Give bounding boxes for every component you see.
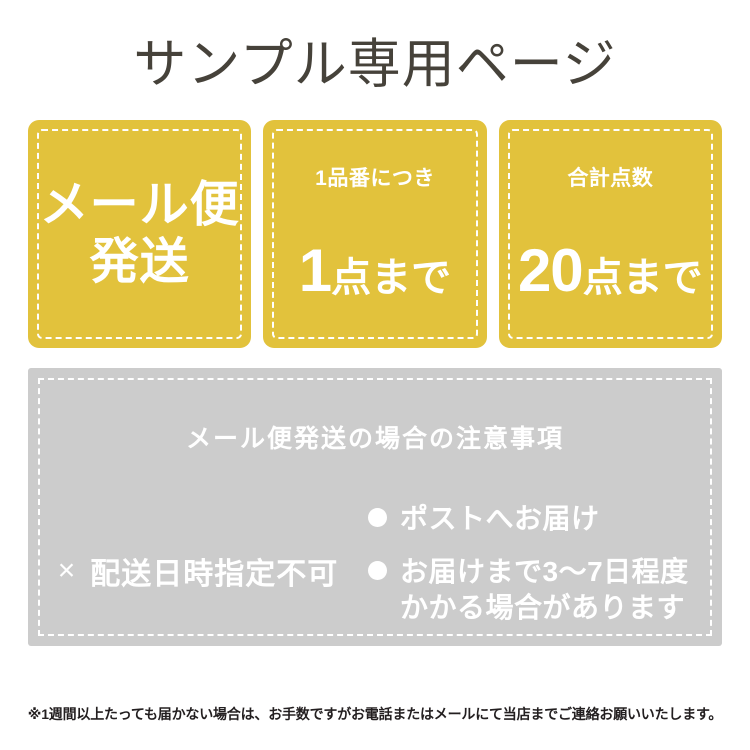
list-item: お届けまで3〜7日程度 かかる場合があります xyxy=(368,554,722,626)
notice-body: × 配送日時指定不可 ポストへお届け お届けまで3〜7日程度 かかる場合がありま… xyxy=(28,455,722,625)
feature-box-row: メール便 発送 1品番につき 1点まで 合計点数 20点まで xyxy=(28,120,722,348)
bullet-line-1: お届けまで3〜7日程度 xyxy=(400,556,689,587)
bullet-line-2: かかる場合があります xyxy=(400,590,689,626)
total-limit-unit: 点まで xyxy=(583,256,703,300)
bullet-text: お届けまで3〜7日程度 かかる場合があります xyxy=(400,554,689,626)
per-item-limit-number: 1 xyxy=(299,237,331,304)
notice-bullet-list: ポストへお届け お届けまで3〜7日程度 かかる場合があります xyxy=(368,501,722,625)
page-title: サンプル専用ページ xyxy=(0,0,750,91)
bullet-text: ポストへお届け xyxy=(400,501,600,537)
total-limit-value: 20点まで xyxy=(499,241,722,301)
total-limit-caption: 合計点数 xyxy=(499,168,722,189)
feature-box-per-item-limit: 1品番につき 1点まで xyxy=(263,120,486,348)
shipping-method-line-2: 発送 xyxy=(28,234,251,291)
feature-box-total-limit: 合計点数 20点まで xyxy=(499,120,722,348)
feature-box-shipping-method: メール便 発送 xyxy=(28,120,251,348)
total-limit-number: 20 xyxy=(518,237,583,304)
per-item-limit-caption: 1品番につき xyxy=(263,168,486,189)
cross-icon: × xyxy=(58,556,77,586)
bullet-line-1: ポストへお届け xyxy=(400,503,600,534)
notice-heading: メール便発送の場合の注意事項 xyxy=(28,368,722,455)
shipping-method-line-1: メール便 xyxy=(28,177,251,234)
bullet-dot-icon xyxy=(368,508,387,527)
bullet-dot-icon xyxy=(368,561,387,580)
feature-box-content: 1品番につき 1点まで xyxy=(263,168,486,301)
feature-box-content: メール便 発送 xyxy=(28,177,251,291)
notice-panel: メール便発送の場合の注意事項 × 配送日時指定不可 ポストへお届け お届けまで3… xyxy=(28,368,722,646)
footer-note: ※1週間以上たっても届かない場合は、お手数ですがお電話またはメールにて当店までご… xyxy=(0,704,750,724)
sample-info-page: サンプル専用ページ メール便 発送 1品番につき 1点まで 合計点数 20点まで xyxy=(0,0,750,750)
notice-restriction-text: 配送日時指定不可 xyxy=(90,549,338,593)
per-item-limit-value: 1点まで xyxy=(263,241,486,301)
notice-restriction: × 配送日時指定不可 xyxy=(28,533,368,593)
per-item-limit-unit: 点まで xyxy=(331,256,451,300)
feature-box-content: 合計点数 20点まで xyxy=(499,168,722,301)
list-item: ポストへお届け xyxy=(368,501,722,537)
